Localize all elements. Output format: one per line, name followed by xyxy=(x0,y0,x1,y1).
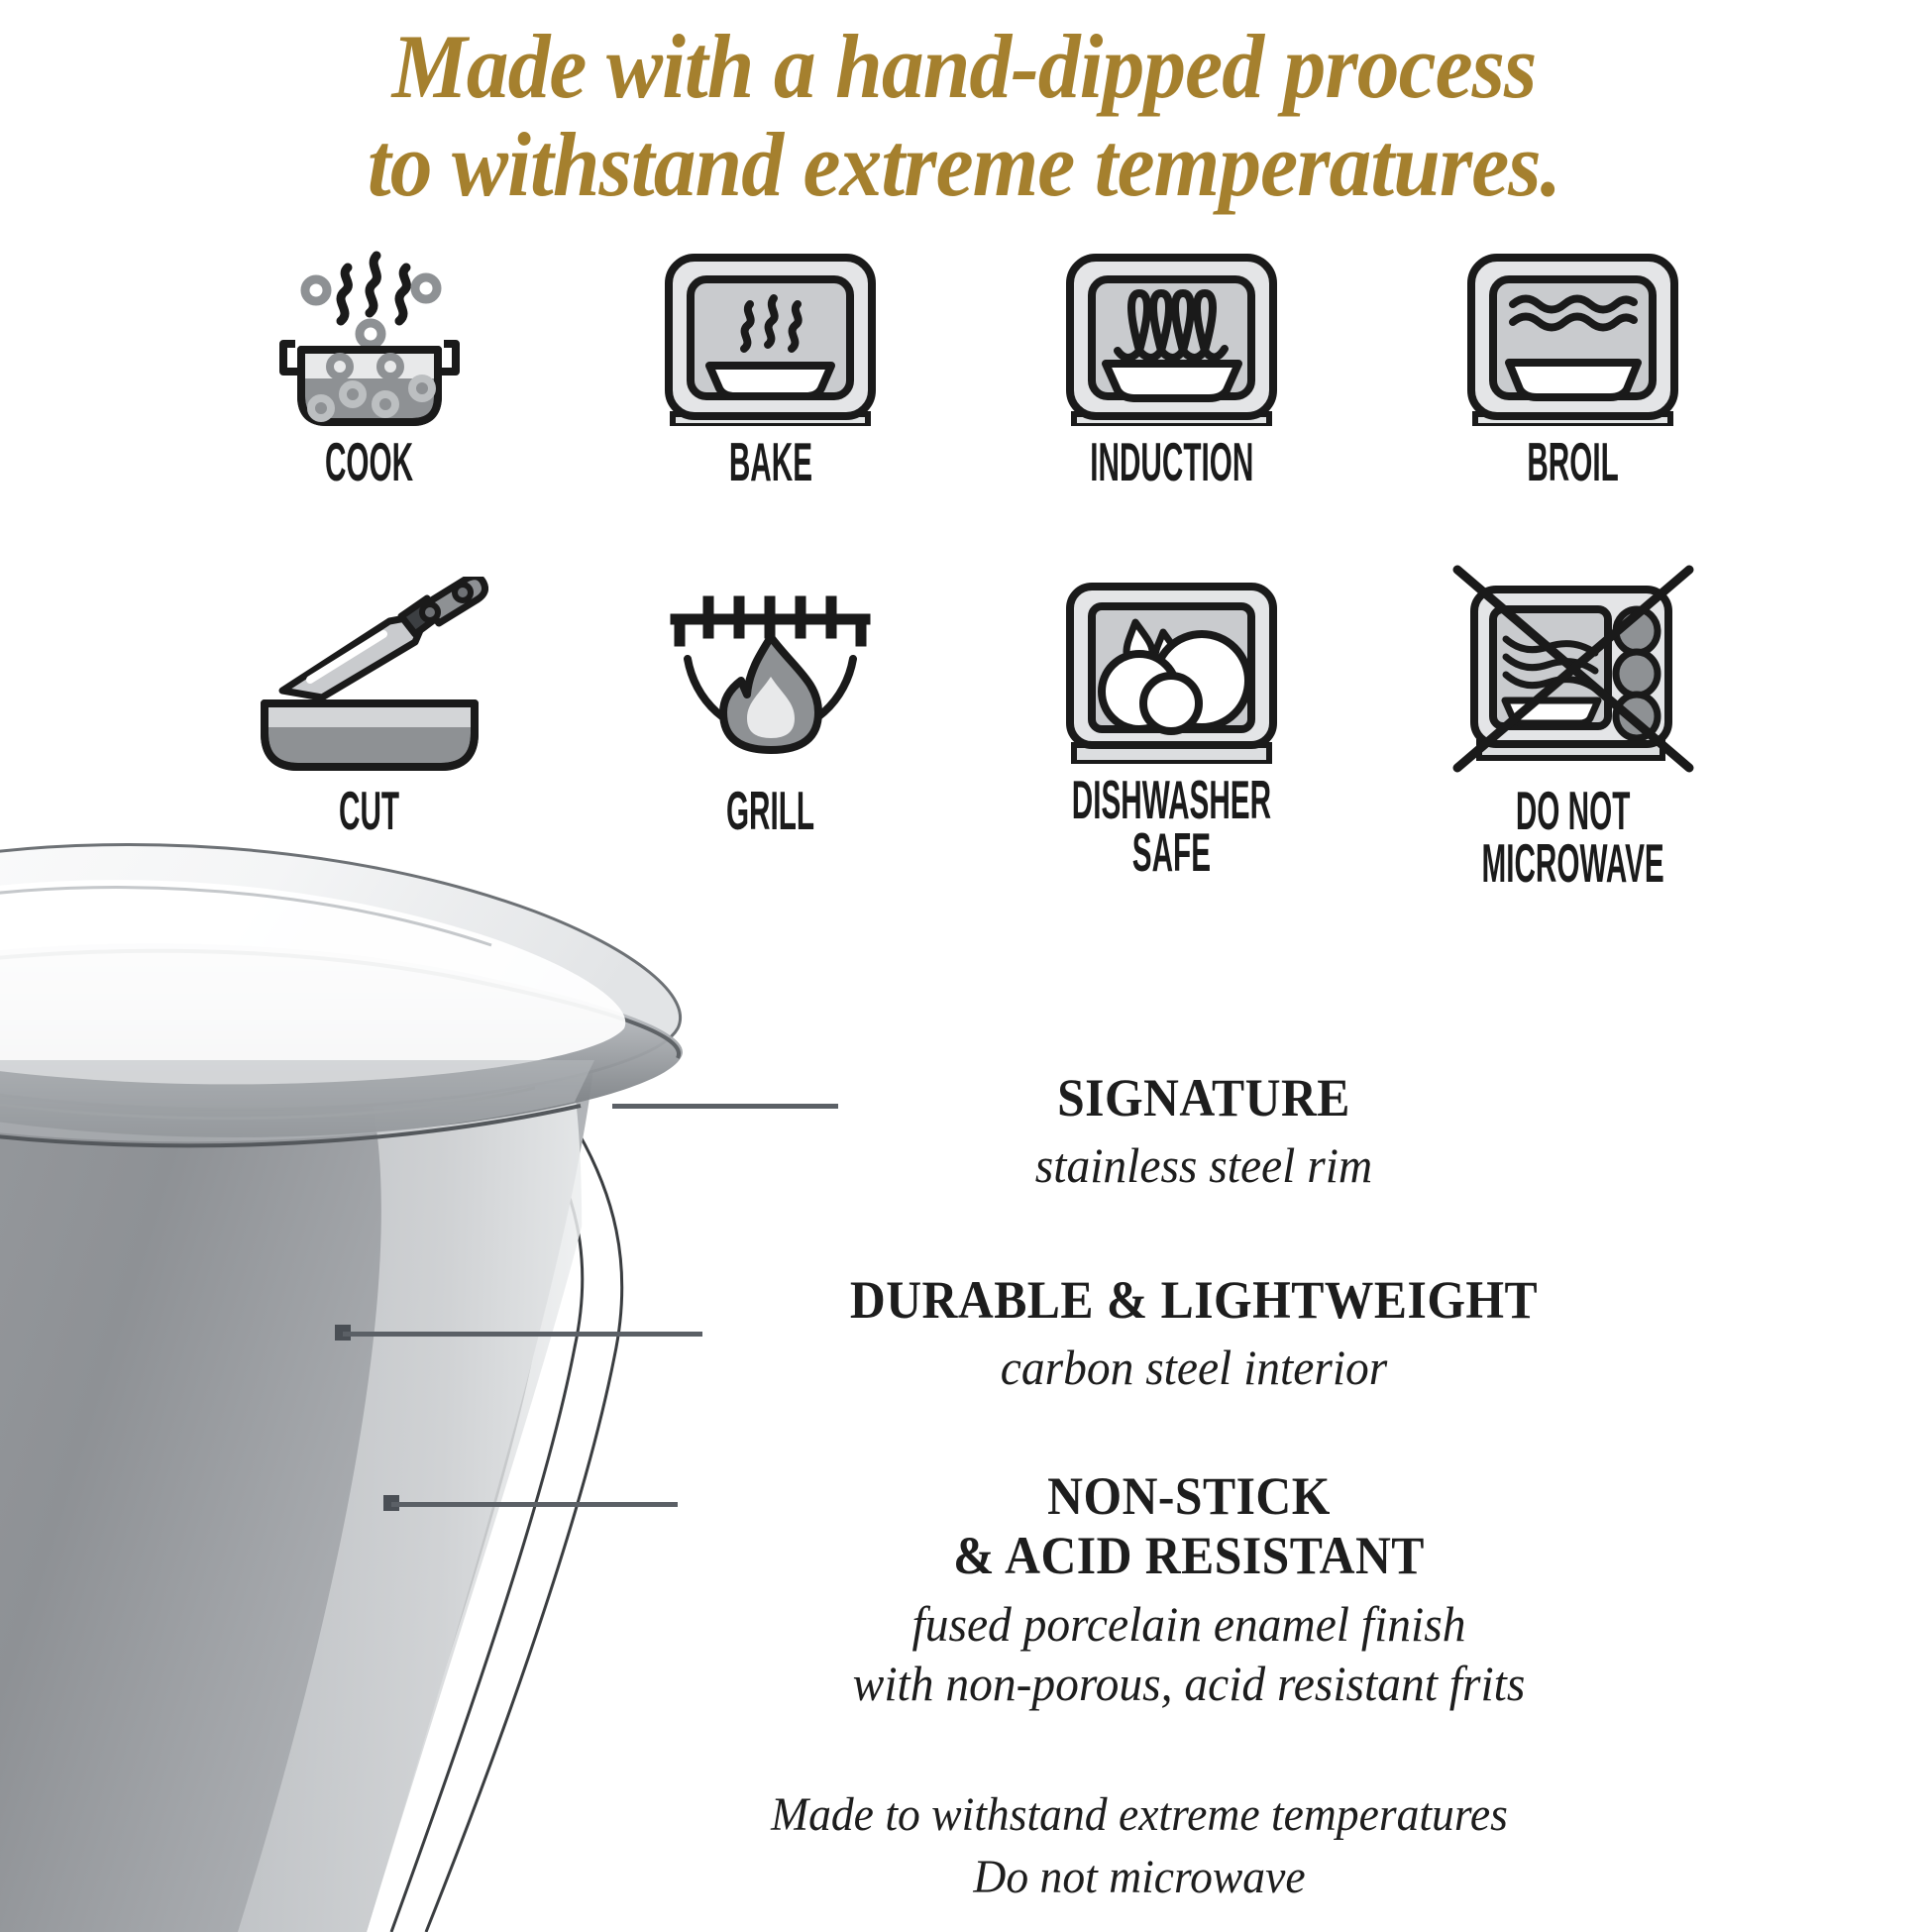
bake-icon xyxy=(659,213,882,426)
do-not-microwave-icon xyxy=(1449,562,1697,775)
icon-label-do-not-microwave: DO NOT MICROWAVE xyxy=(1481,785,1663,890)
footnote-text: Made to withstand extreme temperatures D… xyxy=(622,1783,1658,1909)
icon-cell-bake: BAKE xyxy=(570,213,971,510)
induction-icon xyxy=(1060,213,1283,426)
icon-cell-dishwasher-safe: DISHWASHER SAFE xyxy=(971,562,1372,879)
feature-icon-grid: COOK BA xyxy=(168,213,1773,879)
page-title: Made with a hand-dipped process to withs… xyxy=(67,18,1861,215)
headline-line-2: to withstand extreme temperatures. xyxy=(67,116,1861,214)
icon-label-cook: COOK xyxy=(325,436,413,488)
icon-row-1: COOK BA xyxy=(168,213,1773,510)
broil-icon xyxy=(1461,213,1684,426)
callout-durable-subtitle: carbon steel interior xyxy=(747,1338,1642,1397)
icon-label-broil: BROIL xyxy=(1527,436,1618,488)
leader-line-nonstick xyxy=(391,1502,678,1507)
callout-signature-subtitle: stainless steel rim xyxy=(875,1135,1534,1195)
cut-icon xyxy=(251,562,488,775)
callout-nonstick: NON-STICK & ACID RESISTANT fused porcela… xyxy=(694,1466,1684,1713)
callout-signature-title: SIGNATURE xyxy=(885,1068,1523,1127)
grill-icon xyxy=(664,562,877,775)
callout-nonstick-subtitle: fused porcelain enamel finish with non-p… xyxy=(718,1594,1660,1713)
icon-cell-cook: COOK xyxy=(168,213,570,510)
cook-icon xyxy=(256,213,483,426)
icon-cell-induction: INDUCTION xyxy=(971,213,1372,510)
callout-nonstick-title: NON-STICK & ACID RESISTANT xyxy=(733,1466,1645,1586)
icon-label-dishwasher-safe: DISHWASHER SAFE xyxy=(1072,774,1271,879)
icon-label-bake: BAKE xyxy=(728,436,811,488)
icon-label-induction: INDUCTION xyxy=(1090,436,1253,488)
callout-signature: SIGNATURE stainless steel rim xyxy=(857,1068,1551,1195)
dishwasher-safe-icon xyxy=(1060,562,1283,764)
icon-cell-do-not-microwave: DO NOT MICROWAVE xyxy=(1372,562,1773,879)
icon-cell-broil: BROIL xyxy=(1372,213,1773,510)
leader-line-durable xyxy=(343,1332,702,1337)
leader-line-signature xyxy=(612,1104,838,1109)
callout-durable-title: DURABLE & LIGHTWEIGHT xyxy=(761,1270,1627,1330)
callout-durable: DURABLE & LIGHTWEIGHT carbon steel inter… xyxy=(723,1270,1664,1397)
headline-line-1: Made with a hand-dipped process xyxy=(67,18,1861,116)
